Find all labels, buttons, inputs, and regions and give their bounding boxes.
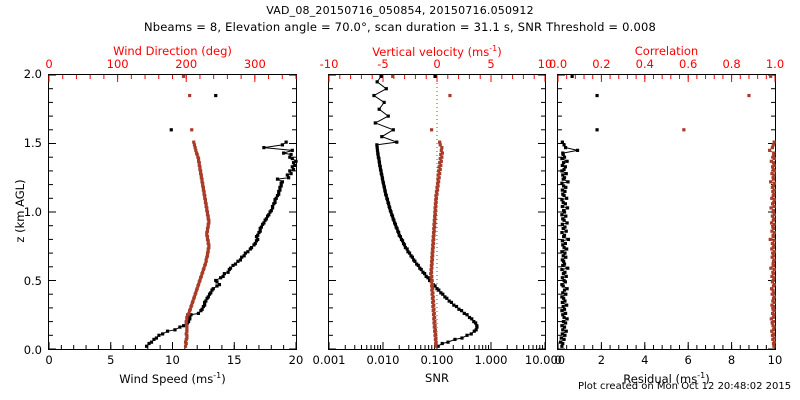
series-wind-speed bbox=[145, 141, 298, 348]
plot-title: VAD_08_20150716_050854, 20150716.050912 bbox=[0, 4, 800, 17]
top-tick-label: 0.8 bbox=[722, 57, 740, 71]
top-tick-label: -5 bbox=[377, 57, 388, 71]
series-wind-direction bbox=[184, 141, 211, 348]
series-snr-isolated- bbox=[433, 75, 436, 78]
bottom-axis-label-snr: SNR bbox=[328, 371, 546, 385]
plot-credit: Plot created on Mon Oct 12 20:48:02 2015 bbox=[578, 381, 791, 392]
y-tick-label: 0.5 bbox=[8, 274, 42, 288]
series-residual-isolated- bbox=[571, 75, 599, 132]
top-tick-label: 1.0 bbox=[766, 57, 784, 71]
series-vertical-velocity-isolated- bbox=[391, 75, 451, 132]
top-tick-label: 0 bbox=[433, 57, 440, 71]
panel-snr-vertical-velocity bbox=[328, 74, 546, 350]
y-tick-label: 1.5 bbox=[8, 136, 42, 150]
bottom-tick-label: 10 bbox=[768, 353, 783, 367]
series-wind-direction-isolated- bbox=[182, 75, 193, 132]
bottom-tick-label: 5 bbox=[107, 353, 114, 367]
bottom-tick-label: 2 bbox=[598, 353, 605, 367]
panel-wind-speed-direction bbox=[48, 74, 297, 350]
plot-canvas: VAD_08_20150716_050854, 20150716.050912 … bbox=[0, 0, 800, 400]
top-axis-label-wind: Wind Direction (deg) bbox=[48, 44, 297, 58]
bottom-tick-label: 20 bbox=[289, 353, 304, 367]
panel-residual-correlation bbox=[557, 74, 776, 350]
top-tick-label: 200 bbox=[175, 57, 197, 71]
series-snr bbox=[372, 75, 478, 348]
top-tick-label: -10 bbox=[320, 57, 339, 71]
y-tick-label: 1.0 bbox=[8, 205, 42, 219]
y-tick-label: 0.0 bbox=[8, 343, 42, 357]
series-correlation-isolated- bbox=[682, 75, 772, 132]
bottom-tick-label: 15 bbox=[227, 353, 242, 367]
y-tick-label: 2.0 bbox=[8, 67, 42, 81]
bottom-tick-label: 6 bbox=[685, 353, 692, 367]
top-tick-label: 0.4 bbox=[636, 57, 654, 71]
top-tick-label: 0.6 bbox=[679, 57, 697, 71]
bottom-axis-label-wind: Wind Speed (ms-1) bbox=[48, 371, 297, 386]
bottom-tick-label: 0.001 bbox=[313, 353, 346, 367]
top-tick-label: 100 bbox=[107, 57, 129, 71]
top-tick-label: 0.0 bbox=[549, 57, 567, 71]
top-tick-label: 5 bbox=[487, 57, 494, 71]
series-correlation bbox=[768, 141, 776, 348]
top-tick-label: 0.2 bbox=[592, 57, 610, 71]
bottom-tick-label: 8 bbox=[728, 353, 735, 367]
top-axis-label-residual: Correlation bbox=[557, 44, 776, 58]
series-wind-speed-isolated- bbox=[170, 94, 218, 131]
plot-subtitle: Nbeams = 8, Elevation angle = 70.0°, sca… bbox=[0, 20, 800, 34]
series-residual bbox=[559, 141, 579, 348]
bottom-tick-label: 4 bbox=[641, 353, 648, 367]
bottom-tick-label: 0 bbox=[45, 353, 52, 367]
bottom-tick-label: 0.100 bbox=[421, 353, 454, 367]
bottom-tick-label: 1.000 bbox=[475, 353, 508, 367]
top-tick-label: 300 bbox=[244, 57, 266, 71]
bottom-tick-label: 0 bbox=[554, 353, 561, 367]
top-tick-label: 0 bbox=[45, 57, 52, 71]
bottom-tick-label: 10 bbox=[165, 353, 180, 367]
bottom-tick-label: 0.010 bbox=[367, 353, 400, 367]
